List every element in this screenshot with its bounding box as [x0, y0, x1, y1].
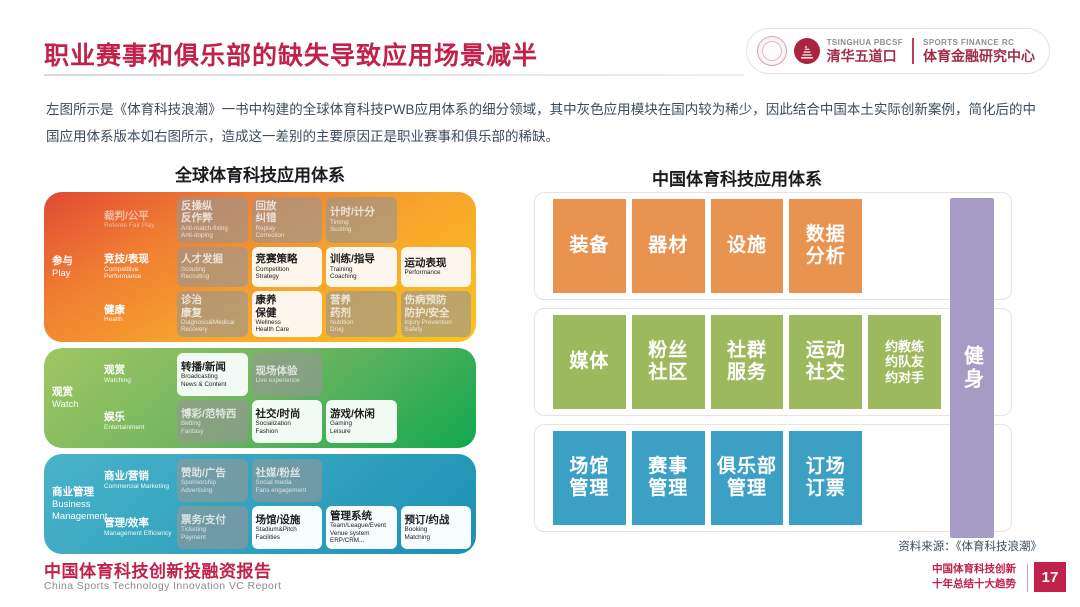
footer-title-en: China Sports Technology Innovation VC Re… — [44, 580, 281, 592]
cell-label-en: Anti-match-fixingAnti-doping — [181, 225, 244, 240]
band-label: 商业管理Business Management — [49, 459, 101, 549]
diagram-cell[interactable]: 运动表现Performance — [401, 247, 472, 287]
cell-label-cn: 游戏/休闲 — [330, 408, 393, 420]
cell-label-en: BookingMatching — [405, 526, 468, 541]
china-cell-label: 约教练约队友约对手 — [885, 339, 924, 385]
china-cell-label: 场馆管理 — [569, 456, 609, 501]
row-header-cn: 竞技/表现 — [104, 253, 173, 266]
row-header: 竞技/表现Competitive Performance — [101, 247, 173, 287]
title-divider — [44, 74, 744, 76]
diagram-cell[interactable]: 社媒/粉丝Social mediaFans engagement — [252, 459, 323, 502]
china-cell[interactable]: 设施 — [711, 199, 784, 293]
china-cell-label: 俱乐部管理 — [717, 456, 777, 501]
row-header-cn: 商业/营销 — [104, 470, 173, 483]
cell-label-en: SponsorshipAdvertising — [181, 479, 244, 494]
logo-divider — [912, 38, 914, 64]
diagram-cell-empty — [401, 353, 472, 396]
diagram-row: 管理/效率Management Efficiency票务/支付Ticketing… — [101, 506, 471, 549]
cell-label-cn: 运动表现 — [405, 257, 468, 269]
china-cell[interactable]: 订场订票 — [789, 431, 862, 525]
band-rows: 观赏Watching转播/新闻BroadcastingNews & Conten… — [101, 353, 471, 443]
diagram-cell[interactable]: 博彩/范特西BettingFantasy — [177, 400, 248, 443]
row-header-en: Watching — [104, 377, 173, 385]
row-header: 裁判/公平Referee Fair Play — [101, 197, 173, 243]
cell-label-cn: 票务/支付 — [181, 514, 244, 526]
cell-label-cn: 场馆/设施 — [256, 514, 319, 526]
row-header: 健康Health — [101, 291, 173, 337]
china-band: 场馆管理赛事管理俱乐部管理订场订票 — [534, 424, 1012, 532]
band-rows: 裁判/公平Referee Fair Play反操纵反作弊Anti-match-f… — [101, 197, 471, 337]
cell-label-en: TrainingCoaching — [330, 266, 393, 281]
footer-series-label: 中国体育科技创新 十年总结十大趋势 — [932, 562, 1016, 592]
cell-label-en: GamingLeisure — [330, 420, 393, 435]
diagram-row: 观赏Watching转播/新闻BroadcastingNews & Conten… — [101, 353, 471, 396]
footer-divider — [1027, 564, 1028, 592]
cell-label-cn: 人才发掘 — [181, 253, 244, 265]
diagram-cell[interactable]: 回放纠错ReplayCorrection — [252, 197, 323, 243]
row-header: 商业/营销Commercial Marketing — [101, 459, 173, 502]
row-header-en: Referee Fair Play — [104, 222, 173, 230]
cell-label-cn: 社媒/粉丝 — [256, 467, 319, 479]
cell-label-en: ScoutingRecruiting — [181, 266, 244, 281]
left-chart-title: 全球体育科技应用体系 — [175, 161, 345, 186]
tsinghua-seal-icon — [757, 36, 787, 66]
diagram-cell[interactable]: 反操纵反作弊Anti-match-fixingAnti-doping — [177, 197, 248, 243]
cell-label-en: Live experience — [256, 377, 319, 385]
cell-label-cn: 计时/计分 — [330, 206, 393, 218]
china-cell[interactable]: 场馆管理 — [553, 431, 626, 525]
china-cell-label: 社群服务 — [727, 340, 767, 385]
global-framework-diagram: 参与Play裁判/公平Referee Fair Play反操纵反作弊Anti-m… — [44, 192, 476, 560]
band-label-en: Play — [52, 268, 101, 280]
diagram-row: 竞技/表现Competitive Performance人才发掘Scouting… — [101, 247, 471, 287]
cell-label-en: ReplayCorrection — [256, 225, 319, 240]
band-label-en: Business Management — [52, 499, 101, 523]
cell-label-cn: 康养保健 — [256, 294, 319, 319]
row-header: 观赏Watching — [101, 353, 173, 396]
cell-label-cn: 预订/约战 — [405, 514, 468, 526]
diagram-cell[interactable]: 游戏/休闲GamingLeisure — [326, 400, 397, 443]
row-header-en: Health — [104, 316, 173, 324]
china-cell-label: 赛事管理 — [648, 456, 688, 501]
source-note: 资料来源：《体育科技浪潮》 — [898, 538, 1042, 554]
diagram-row: 裁判/公平Referee Fair Play反操纵反作弊Anti-match-f… — [101, 197, 471, 243]
cell-label-cn: 竞赛策略 — [256, 253, 319, 265]
china-cell[interactable]: 器材 — [632, 199, 705, 293]
row-header-en: Management Efficiency — [104, 530, 173, 538]
cell-label-en: BroadcastingNews & Content — [181, 373, 244, 388]
row-header-cn: 管理/效率 — [104, 517, 173, 530]
diagram-cell[interactable]: 现场体验Live experience — [252, 353, 323, 396]
row-header-cn: 健康 — [104, 304, 173, 317]
cell-label-en: Diagnosis&MedicalRecovery — [181, 319, 244, 334]
logo-line1-cn: 清华五道口 — [827, 48, 903, 64]
diagram-row: 健康Health诊治康复Diagnosis&MedicalRecovery康养保… — [101, 291, 471, 337]
footer-series-line1: 中国体育科技创新 — [932, 562, 1016, 577]
cell-label-cn: 社交/时尚 — [256, 408, 319, 420]
cell-label-en: TimingScoring — [330, 219, 393, 234]
cell-label-en: Social mediaFans engagement — [256, 479, 319, 494]
china-framework-diagram: 装备器材设施数据分析媒体粉丝社区社群服务运动社交约教练约队友约对手场馆管理赛事管… — [534, 192, 1012, 540]
cell-label-en: Team/League/EventVenue systemERP/CRM... — [330, 522, 393, 545]
china-cell[interactable]: 数据分析 — [789, 199, 862, 293]
diagram-cell[interactable]: 社交/时尚SocializationFashion — [252, 400, 323, 443]
cell-label-en: WellnessHealth Care — [256, 319, 319, 334]
fitness-vertical-block: 健身 — [950, 198, 994, 538]
band-label-cn: 参与 — [52, 255, 101, 268]
page-number-badge: 17 — [1034, 562, 1066, 592]
china-cell-label: 粉丝社区 — [648, 340, 688, 385]
china-band: 媒体粉丝社区社群服务运动社交约教练约队友约对手 — [534, 308, 1012, 416]
china-cell[interactable]: 媒体 — [553, 315, 626, 409]
china-cell-label: 设施 — [727, 235, 767, 257]
band-label-en: Watch — [52, 399, 101, 411]
row-header-cn: 娱乐 — [104, 411, 173, 424]
right-chart-title: 中国体育科技应用体系 — [652, 165, 822, 190]
diagram-row: 商业/营销Commercial Marketing赞助/广告Sponsorshi… — [101, 459, 471, 502]
china-cell-empty — [868, 199, 941, 293]
logo-line2-cn: 体育金融研究中心 — [923, 48, 1035, 64]
band-label-cn: 观赏 — [52, 386, 101, 399]
cell-label-cn: 博彩/范特西 — [181, 408, 244, 420]
band-label: 观赏Watch — [49, 353, 101, 443]
diagram-cell[interactable]: 训练/指导TrainingCoaching — [326, 247, 397, 287]
diagram-cell[interactable]: 预订/约战BookingMatching — [401, 506, 472, 549]
footer-title-cn: 中国体育科技创新投融资报告 — [44, 557, 272, 582]
diagram-cell-empty — [401, 459, 472, 502]
diagram-cell[interactable]: 康养保健WellnessHealth Care — [252, 291, 323, 337]
cell-label-cn: 训练/指导 — [330, 253, 393, 265]
band-watch: 观赏Watch观赏Watching转播/新闻BroadcastingNews &… — [44, 348, 476, 448]
diagram-cell-empty — [326, 353, 397, 396]
fitness-label: 健身 — [958, 345, 987, 391]
intro-paragraph: 左图所示是《体育科技浪潮》一书中构建的全球体育科技PWB应用体系的细分领域，其中… — [46, 96, 1036, 150]
row-header-cn: 观赏 — [104, 364, 173, 377]
cell-label-en: BettingFantasy — [181, 420, 244, 435]
cell-label-en: Performance — [405, 269, 468, 277]
cell-label-cn: 转播/新闻 — [181, 361, 244, 373]
cell-label-en: Injury PreventionSafety — [405, 319, 468, 334]
row-header-en: Entertainment — [104, 424, 173, 432]
diagram-cell[interactable]: 场馆/设施Stadium&PitchFacilities — [252, 506, 323, 549]
slide: 职业赛事和俱乐部的缺失导致应用场景减半 TSINGHUA PBCSF 清华五道口… — [0, 0, 1080, 607]
china-cell[interactable]: 赛事管理 — [632, 431, 705, 525]
china-cell-label: 媒体 — [569, 351, 609, 373]
china-cell[interactable]: 装备 — [553, 199, 626, 293]
band-business-management: 商业管理Business Management商业/营销Commercial M… — [44, 454, 476, 554]
band-label-cn: 商业管理 — [52, 486, 101, 499]
china-band: 装备器材设施数据分析 — [534, 192, 1012, 300]
china-cell-label: 订场订票 — [806, 456, 846, 501]
china-cell-label: 运动社交 — [806, 340, 846, 385]
china-cell[interactable]: 俱乐部管理 — [711, 431, 784, 525]
china-cell[interactable]: 社群服务 — [711, 315, 784, 409]
diagram-cell[interactable]: 管理系统Team/League/EventVenue systemERP/CRM… — [326, 506, 397, 549]
cell-label-en: CompetitionStrategy — [256, 266, 319, 281]
diagram-row: 娱乐Entertainment博彩/范特西BettingFantasy社交/时尚… — [101, 400, 471, 443]
row-header-en: Competitive Performance — [104, 266, 173, 282]
diagram-cell[interactable]: 转播/新闻BroadcastingNews & Content — [177, 353, 248, 396]
diagram-cell[interactable]: 计时/计分TimingScoring — [326, 197, 397, 243]
diagram-cell-empty — [326, 459, 397, 502]
diagram-cell[interactable]: 赞助/广告SponsorshipAdvertising — [177, 459, 248, 502]
cell-label-cn: 反操纵反作弊 — [181, 200, 244, 225]
cell-label-cn: 营养药剂 — [330, 294, 393, 319]
diagram-cell[interactable]: 伤病预防防护/安全Injury PreventionSafety — [401, 291, 472, 337]
cell-label-cn: 伤病预防防护/安全 — [405, 294, 468, 319]
cell-label-en: NutritionDrug — [330, 319, 393, 334]
cell-label-en: SocializationFashion — [256, 420, 319, 435]
row-header: 管理/效率Management Efficiency — [101, 506, 173, 549]
band-play: 参与Play裁判/公平Referee Fair Play反操纵反作弊Anti-m… — [44, 192, 476, 342]
cell-label-en: TicketingPayment — [181, 526, 244, 541]
cell-label-en: Stadium&PitchFacilities — [256, 526, 319, 541]
china-cell[interactable]: 约教练约队友约对手 — [868, 315, 941, 409]
diagram-cell[interactable]: 营养药剂NutritionDrug — [326, 291, 397, 337]
diagram-cell[interactable]: 票务/支付TicketingPayment — [177, 506, 248, 549]
china-cell-label: 装备 — [569, 235, 609, 257]
cell-label-cn: 诊治康复 — [181, 294, 244, 319]
brand-logo: TSINGHUA PBCSF 清华五道口 SPORTS FINANCE RC 体… — [746, 28, 1050, 74]
diagram-cell-empty — [401, 400, 472, 443]
cell-label-cn: 回放纠错 — [256, 200, 319, 225]
logo-line2-en: SPORTS FINANCE RC — [923, 38, 1035, 48]
china-cell[interactable]: 粉丝社区 — [632, 315, 705, 409]
footer-series-line2: 十年总结十大趋势 — [932, 577, 1016, 592]
diagram-cell[interactable]: 诊治康复Diagnosis&MedicalRecovery — [177, 291, 248, 337]
logo-line1-en: TSINGHUA PBCSF — [827, 38, 903, 48]
tsinghua-gate-icon — [794, 38, 820, 64]
logo-text-block-2: SPORTS FINANCE RC 体育金融研究中心 — [923, 38, 1035, 64]
diagram-cell-empty — [401, 197, 472, 243]
band-label: 参与Play — [49, 197, 101, 337]
row-header: 娱乐Entertainment — [101, 400, 173, 443]
china-cell[interactable]: 运动社交 — [789, 315, 862, 409]
china-cell-label: 数据分析 — [806, 224, 846, 269]
cell-label-cn: 赞助/广告 — [181, 467, 244, 479]
row-header-en: Commercial Marketing — [104, 483, 173, 491]
diagram-cell[interactable]: 竞赛策略CompetitionStrategy — [252, 247, 323, 287]
page-title: 职业赛事和俱乐部的缺失导致应用场景减半 — [44, 36, 538, 72]
cell-label-cn: 管理系统 — [330, 510, 393, 522]
china-cell-label: 器材 — [648, 235, 688, 257]
logo-text-block: TSINGHUA PBCSF 清华五道口 — [827, 38, 903, 64]
row-header-cn: 裁判/公平 — [104, 210, 173, 223]
china-cell-empty — [868, 431, 941, 525]
diagram-cell[interactable]: 人才发掘ScoutingRecruiting — [177, 247, 248, 287]
band-rows: 商业/营销Commercial Marketing赞助/广告Sponsorshi… — [101, 459, 471, 549]
cell-label-cn: 现场体验 — [256, 365, 319, 377]
